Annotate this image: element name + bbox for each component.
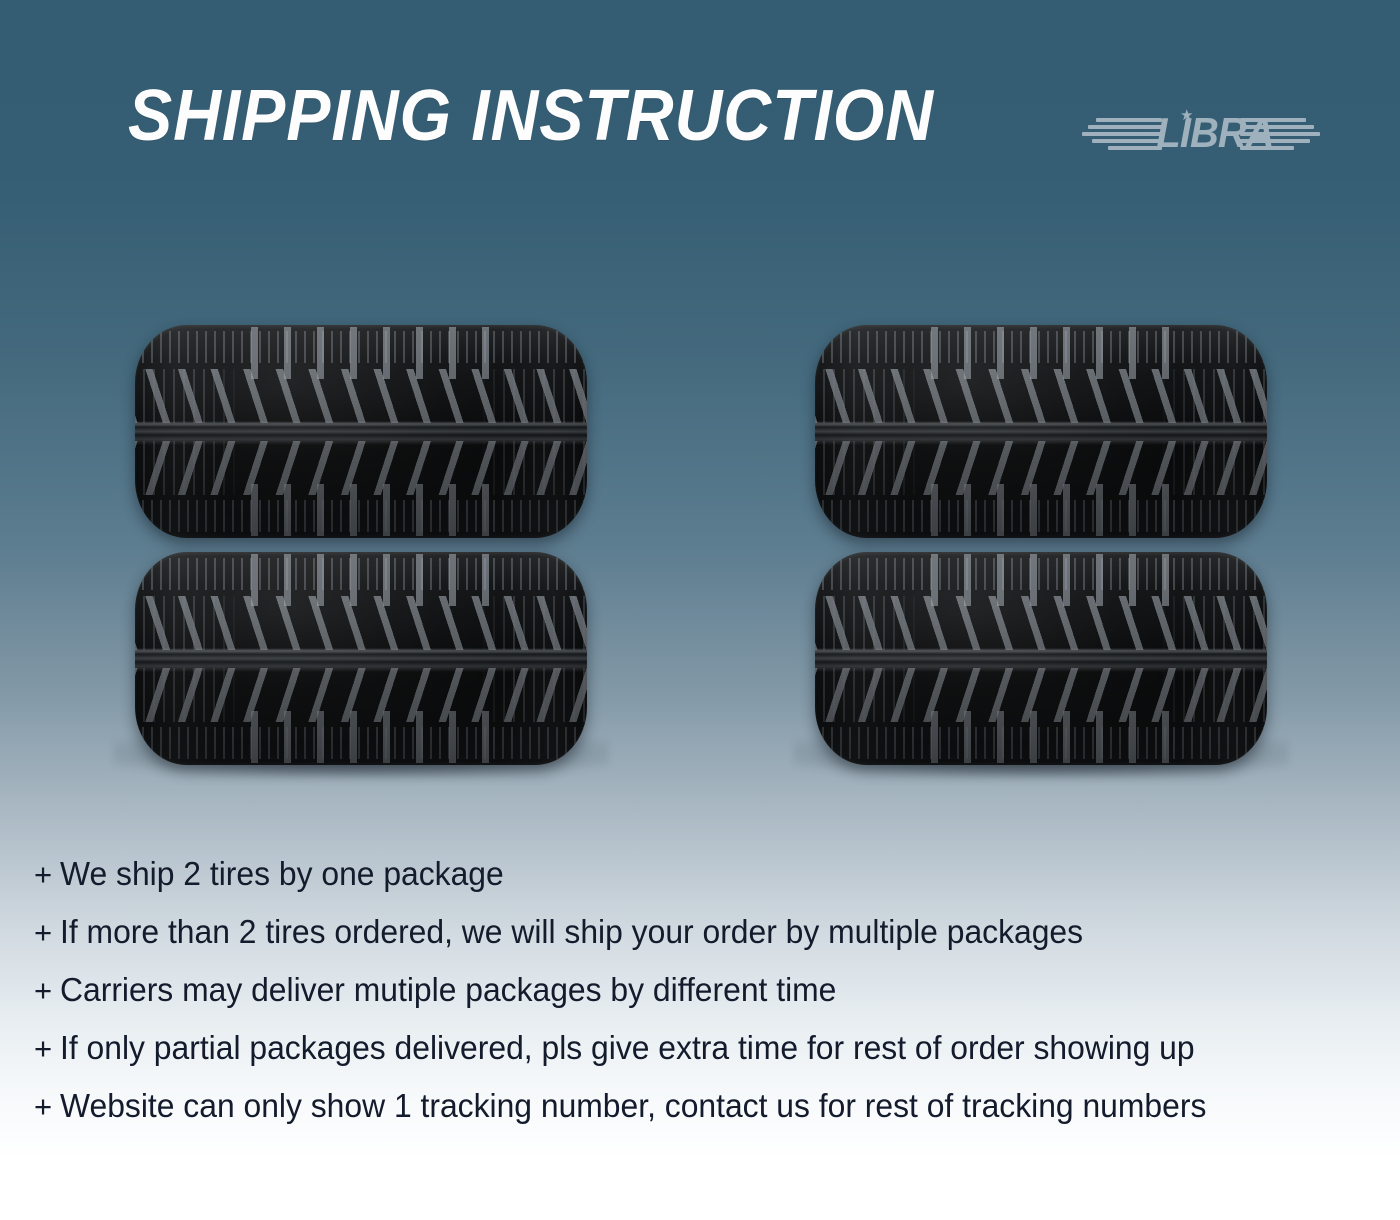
tire-illustration: [815, 552, 1267, 765]
tire-illustration: [815, 325, 1267, 538]
wing-bar: [1082, 132, 1162, 136]
wing-bar: [1092, 139, 1162, 143]
plus-marker-icon: +: [34, 1020, 60, 1078]
tread-diagonal-upper: [815, 596, 1267, 650]
tread-sipes-bottom: [815, 500, 1267, 532]
libra-logo: LIBRA ★: [1082, 104, 1320, 166]
tire-illustration: [135, 325, 587, 538]
wing-bar: [1240, 118, 1306, 122]
shipping-instruction-banner: SHIPPING INSTRUCTION LIBRA ★: [0, 0, 1400, 1220]
instruction-text: Carriers may deliver mutiple packages by…: [60, 961, 836, 1019]
wing-bar: [1108, 146, 1162, 150]
wing-left-icon: [1082, 118, 1162, 152]
instruction-item: + Carriers may deliver mutiple packages …: [34, 961, 1364, 1019]
tread-diagonal-upper: [135, 369, 587, 423]
right-tire-stack: [815, 325, 1267, 765]
plus-marker-icon: +: [34, 846, 60, 904]
instruction-item: + If more than 2 tires ordered, we will …: [34, 903, 1364, 961]
wing-bar: [1240, 132, 1320, 136]
wing-bar: [1088, 125, 1162, 129]
plus-marker-icon: +: [34, 962, 60, 1020]
star-icon: ★: [1180, 110, 1192, 122]
tread-diagonal-upper: [815, 369, 1267, 423]
wing-right-icon: [1240, 118, 1320, 152]
tread-sipes-bottom: [815, 727, 1267, 759]
instruction-item: + Website can only show 1 tracking numbe…: [34, 1077, 1364, 1135]
instruction-text: If only partial packages delivered, pls …: [60, 1019, 1195, 1077]
wing-bar: [1240, 146, 1294, 150]
tread-diagonal-upper: [135, 596, 587, 650]
left-tire-stack: [135, 325, 587, 765]
instruction-text: We ship 2 tires by one package: [60, 845, 504, 903]
instruction-item: + We ship 2 tires by one package: [34, 845, 1364, 903]
wing-bar: [1096, 118, 1162, 122]
logo-wordmark: LIBRA: [1156, 110, 1247, 156]
tread-sipes-bottom: [135, 727, 587, 759]
plus-marker-icon: +: [34, 904, 60, 962]
instruction-text: Website can only show 1 tracking number,…: [60, 1077, 1206, 1135]
wing-bar: [1240, 139, 1310, 143]
page-title: SHIPPING INSTRUCTION: [128, 78, 934, 154]
wing-bar: [1240, 125, 1314, 129]
instruction-item: + If only partial packages delivered, pl…: [34, 1019, 1364, 1077]
tire-illustration: [135, 552, 587, 765]
banner-header: SHIPPING INSTRUCTION LIBRA ★: [0, 0, 1400, 210]
instruction-text: If more than 2 tires ordered, we will sh…: [60, 903, 1083, 961]
tread-sipes-bottom: [135, 500, 587, 532]
plus-marker-icon: +: [34, 1078, 60, 1136]
instruction-list: + We ship 2 tires by one package + If mo…: [34, 845, 1364, 1135]
